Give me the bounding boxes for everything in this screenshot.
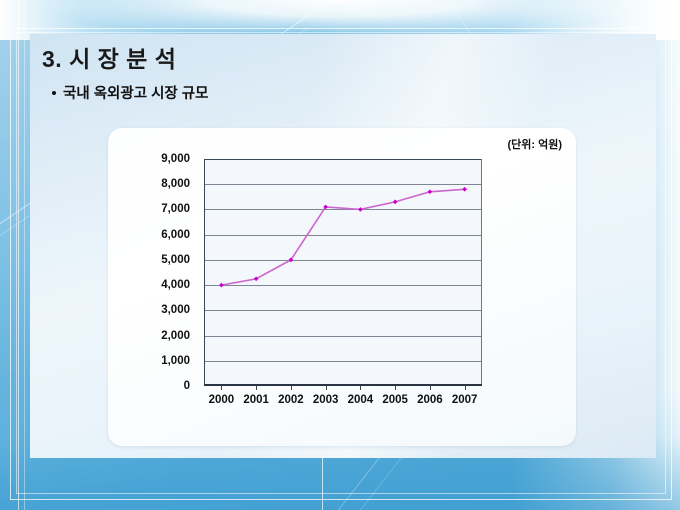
x-axis-tick [256, 386, 257, 390]
presentation-slide: 3. 시 장 분 석 국내 옥외광고 시장 규모 (단위: 억원) 9,0008… [0, 0, 680, 510]
x-axis-tick-label: 2005 [382, 394, 408, 406]
x-axis-tick [326, 386, 327, 390]
y-axis-tick-label: 1,000 [161, 355, 190, 367]
x-axis-tick-label: 2007 [452, 394, 478, 406]
x-axis-tick-label: 2003 [313, 394, 339, 406]
y-axis-tick-label: 8,000 [161, 178, 190, 190]
data-point-marker [358, 207, 363, 212]
y-axis-tick-label: 7,000 [161, 203, 190, 215]
x-axis-labels: 20002001200220032004200520062007 [204, 394, 482, 414]
chart-series-line [204, 159, 482, 386]
y-axis-tick-label: 6,000 [161, 229, 190, 241]
data-point-marker [428, 189, 433, 194]
y-axis-tick-label: 4,000 [161, 279, 190, 291]
y-axis-tick-label: 9,000 [161, 153, 190, 165]
x-axis-tick-label: 2000 [209, 394, 235, 406]
x-axis-tick-label: 2002 [278, 394, 304, 406]
x-axis-tick [360, 386, 361, 390]
x-axis-tick-label: 2006 [417, 394, 443, 406]
x-axis-tick-label: 2004 [348, 394, 374, 406]
y-axis-tick-label: 2,000 [161, 330, 190, 342]
y-axis-tick-label: 5,000 [161, 254, 190, 266]
x-axis-tick-label: 2001 [243, 394, 269, 406]
y-axis-labels: 9,0008,0007,0006,0005,0004,0003,0002,000… [102, 159, 198, 386]
bullet-item-label: 국내 옥외광고 시장 규모 [63, 82, 209, 103]
data-point-marker [462, 187, 467, 192]
x-axis-tick [465, 386, 466, 390]
x-axis-tick [221, 386, 222, 390]
chart-plot-area [204, 159, 482, 386]
slide-content-panel: 3. 시 장 분 석 국내 옥외광고 시장 규모 (단위: 억원) 9,0008… [30, 34, 656, 458]
bullet-item: 국내 옥외광고 시장 규모 [52, 82, 209, 103]
bullet-dot-icon [52, 91, 56, 95]
series-polyline [221, 189, 464, 285]
chart-unit-label: (단위: 억원) [507, 136, 562, 152]
x-axis-tick [395, 386, 396, 390]
x-axis-tick [291, 386, 292, 390]
slide-title: 3. 시 장 분 석 [42, 40, 176, 74]
chart-card: (단위: 억원) 9,0008,0007,0006,0005,0004,0003… [108, 128, 576, 446]
x-axis-tick [430, 386, 431, 390]
y-axis-tick-label: 3,000 [161, 304, 190, 316]
data-point-marker [219, 283, 224, 288]
data-point-marker [393, 200, 398, 205]
y-axis-tick-label: 0 [184, 380, 190, 392]
